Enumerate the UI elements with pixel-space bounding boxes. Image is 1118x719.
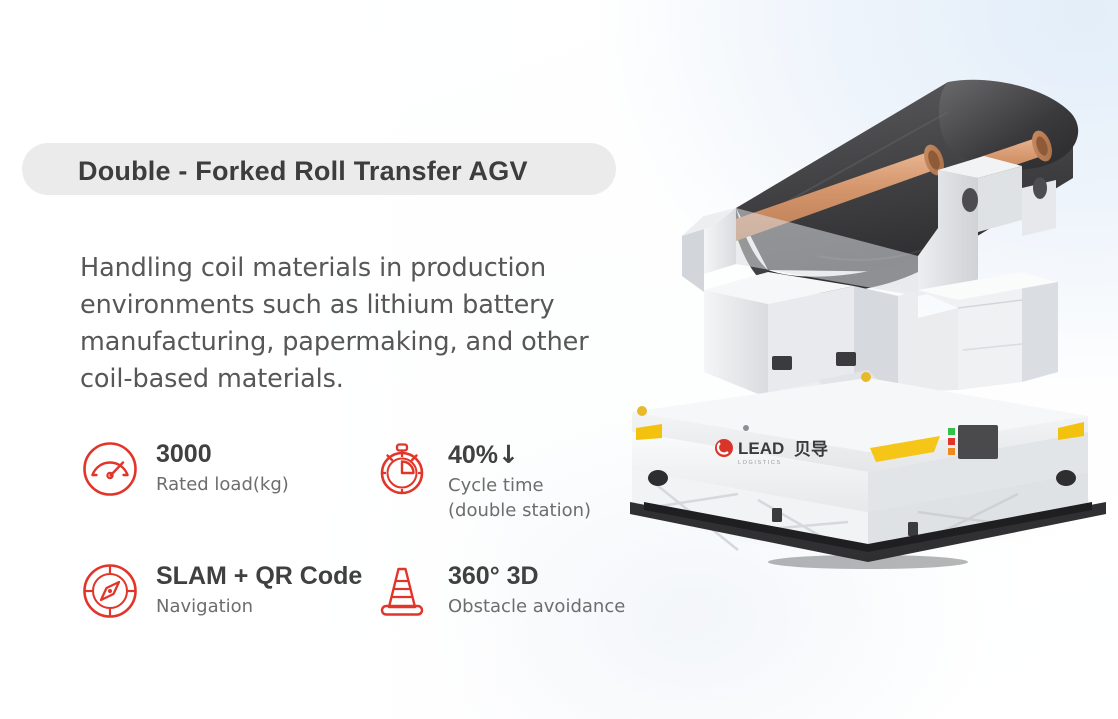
spec-label-secondary: (double station) [448, 498, 591, 523]
spec-label: Rated load(kg) [156, 472, 289, 497]
spec-value: SLAM + QR Code [156, 562, 362, 591]
spec-label: Cycle time [448, 473, 591, 498]
beacon-light-mid [861, 372, 871, 382]
spec-text-rated-load: 3000 Rated load(kg) [156, 437, 289, 497]
traffic-cone-icon [372, 561, 432, 621]
page-title: Double - Forked Roll Transfer AGV [78, 156, 528, 187]
spec-text-cycle-time: 40%↓ Cycle time (double station) [448, 437, 591, 523]
spec-item-obstacle-avoidance: 360° 3D Obstacle avoidance [372, 559, 650, 621]
spec-item-navigation: SLAM + QR Code Navigation [80, 559, 372, 621]
spec-item-rated-load: 3000 Rated load(kg) [80, 437, 372, 559]
mid-body [704, 272, 1058, 398]
brand-logo-cn: 贝导 [794, 440, 828, 460]
spec-value: 360° 3D [448, 562, 625, 591]
product-image-agv: LEAD 贝导 LOGISTICS [618, 60, 1118, 580]
description-text: Handling coil materials in production en… [80, 250, 640, 398]
spec-value: 3000 [156, 440, 289, 469]
spec-value-number: 40% [448, 441, 498, 469]
down-arrow-icon: ↓ [498, 440, 519, 469]
sensor-dot [743, 425, 749, 431]
gauge-icon [80, 439, 140, 499]
beacon-light-left [637, 406, 647, 416]
spec-text-obstacle-avoidance: 360° 3D Obstacle avoidance [448, 559, 625, 619]
brand-logo-sub: LOGISTICS [738, 460, 782, 466]
spec-grid: 3000 Rated load(kg) [80, 437, 650, 621]
spec-label: Obstacle avoidance [448, 594, 625, 619]
compass-icon [80, 561, 140, 621]
brand-logo-text: LEAD [738, 439, 784, 458]
spec-label: Navigation [156, 594, 362, 619]
spec-item-cycle-time: 40%↓ Cycle time (double station) [372, 437, 650, 559]
spec-text-navigation: SLAM + QR Code Navigation [156, 559, 362, 619]
stopwatch-icon [372, 439, 432, 499]
spec-value: 40%↓ [448, 440, 591, 470]
left-content-column: Double - Forked Roll Transfer AGV Handli… [0, 0, 660, 719]
